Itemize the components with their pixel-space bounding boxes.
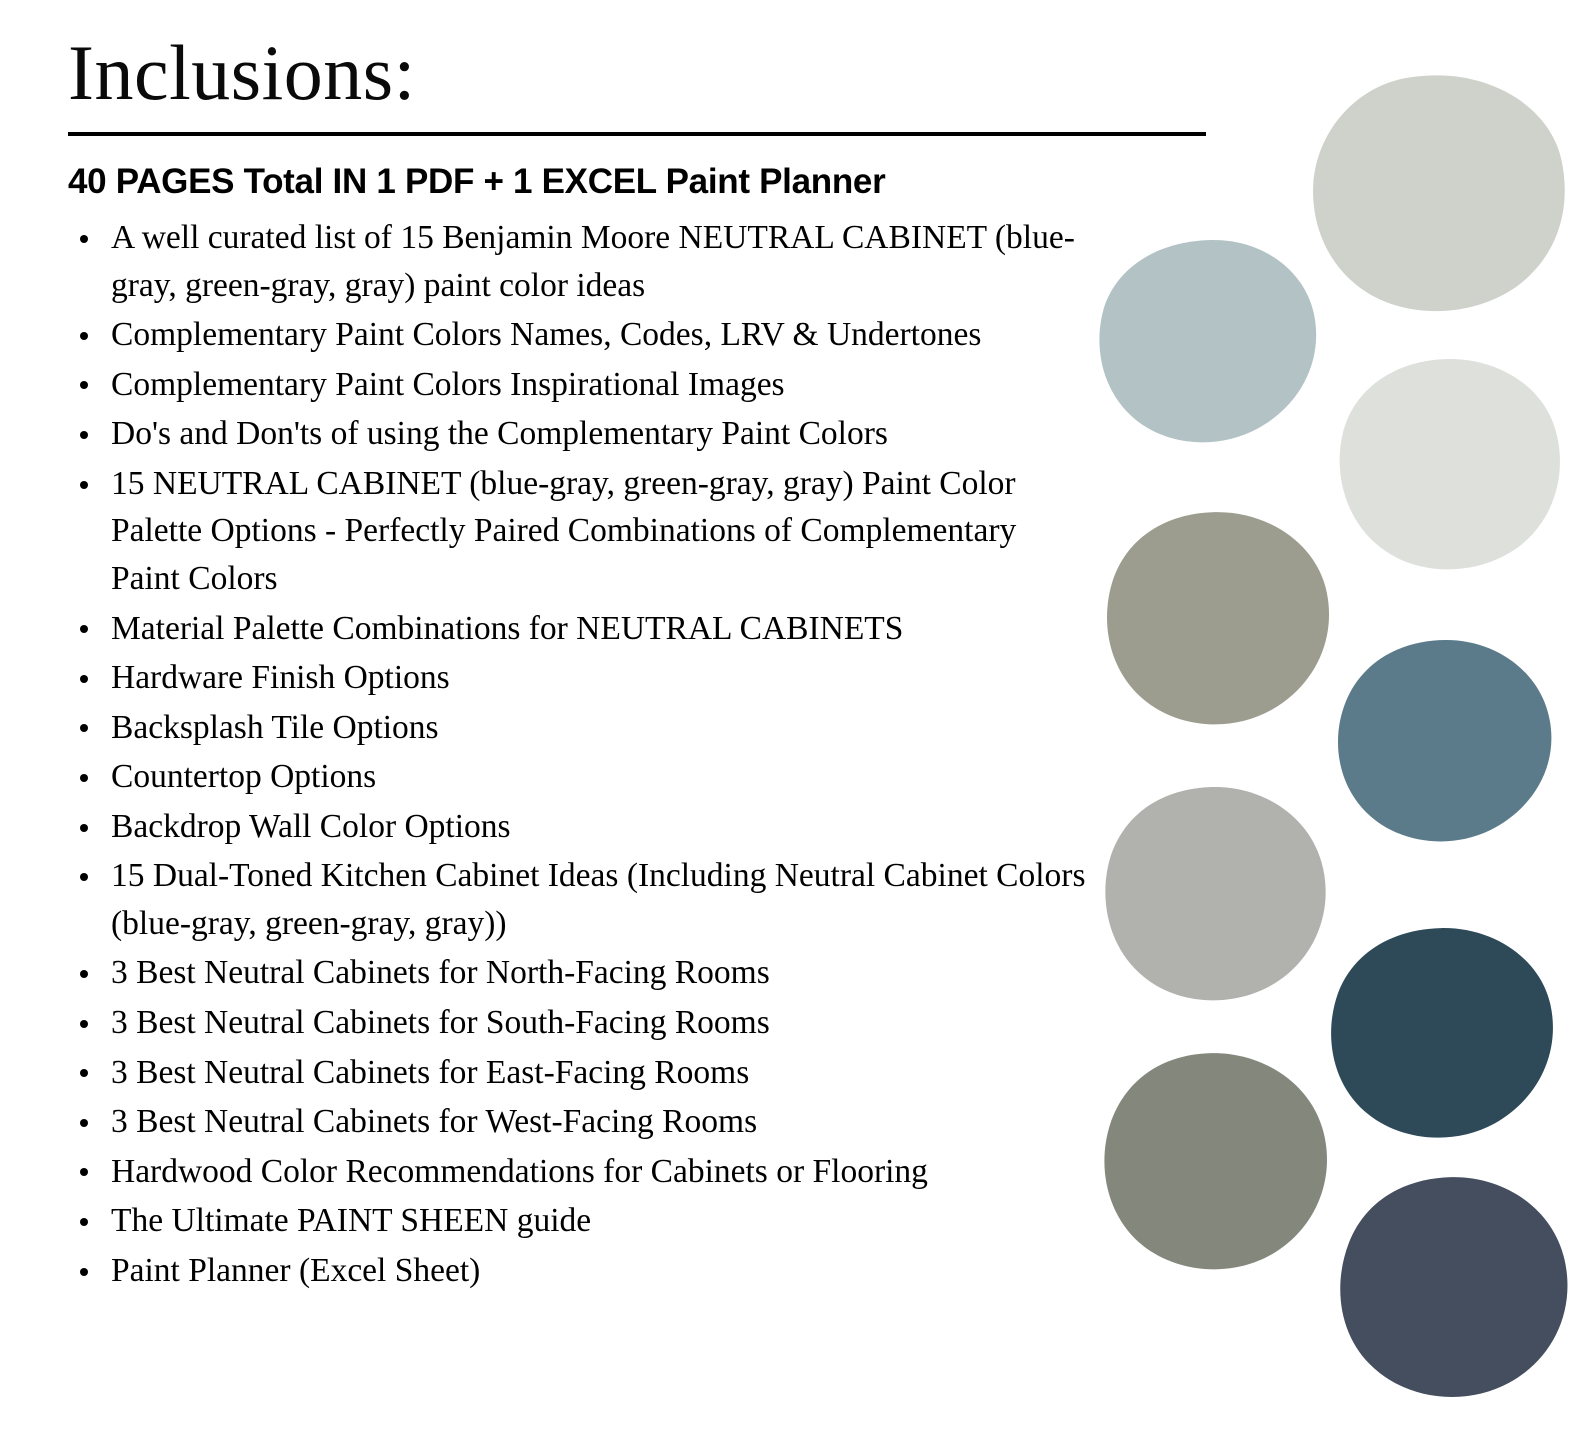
list-item-label: Do's and Don'ts of using the Complementa… <box>111 415 888 452</box>
bullet-icon <box>80 675 88 683</box>
bullet-icon <box>80 774 88 782</box>
list-item: 3 Best Neutral Cabinets for West-Facing … <box>68 1098 1088 1146</box>
page-title: Inclusions: <box>68 34 1088 118</box>
bullet-icon <box>80 332 88 340</box>
list-item: Countertop Options <box>68 753 1088 801</box>
list-item: Hardwood Color Recommendations for Cabin… <box>68 1148 1088 1196</box>
swatch-shape <box>1338 640 1551 841</box>
text-column: Inclusions: 40 PAGES Total IN 1 PDF + 1 … <box>68 34 1088 1296</box>
color-swatch-soft-blue-gray <box>1096 239 1318 446</box>
list-item: 15 Dual-Toned Kitchen Cabinet Ideas (Inc… <box>68 852 1088 947</box>
list-item: Complementary Paint Colors Names, Codes,… <box>68 311 1088 359</box>
bullet-icon <box>80 1268 88 1276</box>
bullet-icon <box>80 1168 88 1176</box>
swatch-shape <box>1340 1177 1567 1397</box>
list-item-label: Paint Planner (Excel Sheet) <box>111 1252 480 1289</box>
color-swatch-warm-sage-taupe <box>1104 511 1330 729</box>
color-swatch-light-sage-gray <box>1307 73 1568 315</box>
list-item: Paint Planner (Excel Sheet) <box>68 1247 1088 1295</box>
list-item-label: A well curated list of 15 Benjamin Moore… <box>111 219 1075 304</box>
list-item-label: Hardware Finish Options <box>111 659 450 696</box>
list-item-label: 15 NEUTRAL CABINET (blue-gray, green-gra… <box>111 465 1016 597</box>
bullet-icon <box>80 1020 88 1028</box>
list-item: 3 Best Neutral Cabinets for South-Facing… <box>68 999 1088 1047</box>
inclusions-list: A well curated list of 15 Benjamin Moore… <box>68 214 1088 1294</box>
color-swatch-steel-blue <box>1335 639 1553 847</box>
color-swatch-off-white-gray <box>1336 358 1562 573</box>
swatch-shape <box>1104 1053 1327 1269</box>
bullet-icon <box>80 724 88 732</box>
list-item-label: Countertop Options <box>111 758 376 795</box>
bullet-icon <box>80 481 88 489</box>
bullet-icon <box>80 1119 88 1127</box>
list-item-label: Material Palette Combinations for NEUTRA… <box>111 610 903 647</box>
bullet-icon <box>80 1218 88 1226</box>
inclusions-page: Inclusions: 40 PAGES Total IN 1 PDF + 1 … <box>0 0 1588 1447</box>
color-swatch-dark-teal-navy <box>1328 927 1554 1142</box>
swatch-shape <box>1313 75 1565 311</box>
swatch-shape <box>1340 359 1560 569</box>
list-item: 3 Best Neutral Cabinets for North-Facing… <box>68 949 1088 997</box>
color-swatch-olive-sage-gray <box>1101 1052 1328 1274</box>
bullet-icon <box>80 970 88 978</box>
bullet-icon <box>80 235 88 243</box>
list-item: 15 NEUTRAL CABINET (blue-gray, green-gra… <box>68 460 1088 603</box>
list-item-label: 15 Dual-Toned Kitchen Cabinet Ideas (Inc… <box>111 857 1085 942</box>
list-item: The Ultimate PAINT SHEEN guide <box>68 1197 1088 1245</box>
color-swatch-charcoal-blue <box>1337 1176 1568 1402</box>
bullet-icon <box>80 381 88 389</box>
title-divider <box>68 132 1206 136</box>
list-item-label: Backdrop Wall Color Options <box>111 808 511 845</box>
color-swatch-neutral-gray <box>1101 786 1327 1005</box>
list-item-label: 3 Best Neutral Cabinets for North-Facing… <box>111 954 770 991</box>
list-item: Backdrop Wall Color Options <box>68 803 1088 851</box>
list-item-label: Backsplash Tile Options <box>111 709 439 746</box>
list-item-label: The Ultimate PAINT SHEEN guide <box>111 1202 591 1239</box>
bullet-icon <box>80 824 88 832</box>
list-item: Material Palette Combinations for NEUTRA… <box>68 605 1088 653</box>
swatch-shape <box>1105 787 1325 1000</box>
list-item-label: 3 Best Neutral Cabinets for West-Facing … <box>111 1103 757 1140</box>
bullet-icon <box>80 431 88 439</box>
bullet-icon <box>80 873 88 881</box>
bullet-icon <box>80 1069 88 1077</box>
list-item-label: 3 Best Neutral Cabinets for East-Facing … <box>111 1054 749 1091</box>
list-item: Backsplash Tile Options <box>68 704 1088 752</box>
list-item: Do's and Don'ts of using the Complementa… <box>68 410 1088 458</box>
list-item-label: Complementary Paint Colors Names, Codes,… <box>111 316 981 353</box>
list-item: Hardware Finish Options <box>68 654 1088 702</box>
bullet-icon <box>80 625 88 633</box>
list-item-label: 3 Best Neutral Cabinets for South-Facing… <box>111 1004 770 1041</box>
swatch-shape <box>1331 928 1553 1138</box>
list-item: A well curated list of 15 Benjamin Moore… <box>68 214 1088 309</box>
list-item-label: Complementary Paint Colors Inspirational… <box>111 366 785 403</box>
swatch-shape <box>1107 512 1329 724</box>
list-item: 3 Best Neutral Cabinets for East-Facing … <box>68 1049 1088 1097</box>
swatch-shape <box>1099 240 1316 442</box>
subtitle-summary: 40 PAGES Total IN 1 PDF + 1 EXCEL Paint … <box>68 162 1088 202</box>
list-item-label: Hardwood Color Recommendations for Cabin… <box>111 1153 928 1190</box>
list-item: Complementary Paint Colors Inspirational… <box>68 361 1088 409</box>
